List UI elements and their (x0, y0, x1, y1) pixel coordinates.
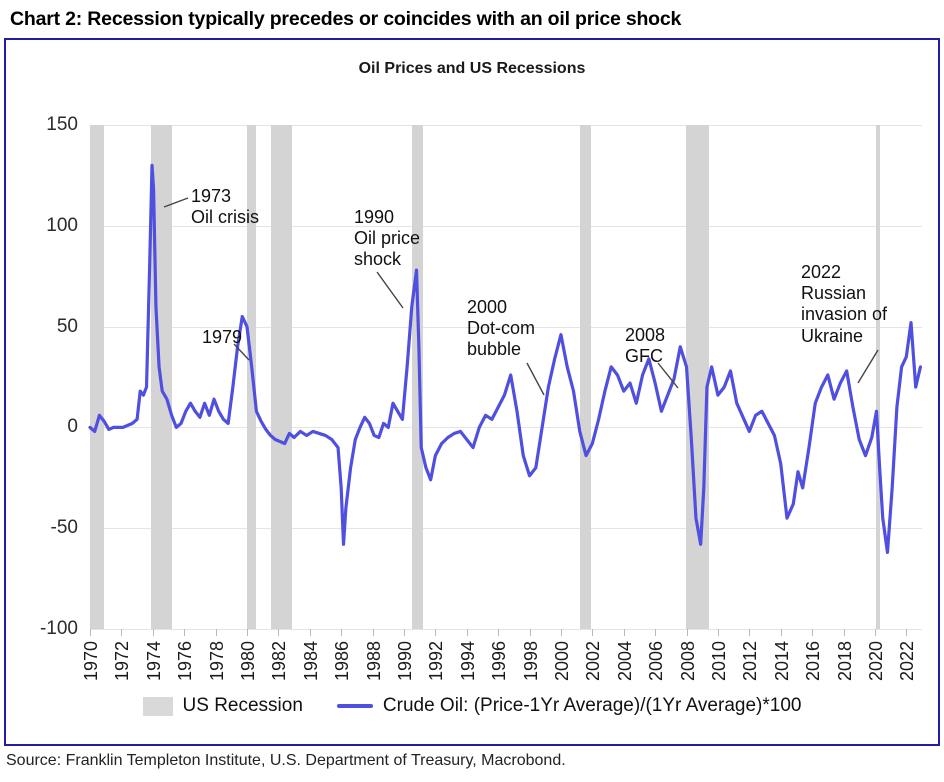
x-axis-tick-mark (592, 629, 593, 636)
x-axis-tick-mark (435, 629, 436, 636)
x-axis-tick-mark (467, 629, 468, 636)
x-axis-tick-label: 1992 (426, 641, 447, 681)
x-axis-tick-label: 1970 (81, 641, 102, 681)
legend: US Recession Crude Oil: (Price-1Yr Avera… (6, 695, 938, 717)
y-axis-tick-label: 100 (16, 215, 78, 237)
x-axis-tick-mark (718, 629, 719, 636)
x-axis-tick-label: 2022 (897, 641, 918, 681)
y-axis-tick-label: 0 (16, 416, 78, 438)
annotation-a1990: 1990 Oil price shock (354, 207, 420, 271)
y-axis-tick-label: 150 (16, 114, 78, 136)
x-axis-tick-label: 1982 (269, 641, 290, 681)
x-axis-tick-label: 2020 (866, 641, 887, 681)
x-axis-tick-mark (875, 629, 876, 636)
x-axis-tick-mark (530, 629, 531, 636)
x-axis-tick-mark (90, 629, 91, 636)
annotation-a1979: 1979 (202, 327, 242, 348)
x-axis-tick-mark (624, 629, 625, 636)
x-axis-tick-label: 1986 (332, 641, 353, 681)
x-axis-tick-mark (247, 629, 248, 636)
legend-label-crude-oil: Crude Oil: (Price-1Yr Average)/(1Yr Aver… (383, 695, 802, 717)
x-axis-tick-mark (278, 629, 279, 636)
annotation-a2000: 2000 Dot-com bubble (467, 297, 535, 361)
x-axis-tick-label: 1984 (301, 641, 322, 681)
legend-label-recession: US Recession (183, 695, 303, 717)
x-axis-tick-label: 1972 (112, 641, 133, 681)
x-axis-tick-mark (121, 629, 122, 636)
x-axis-tick-mark (749, 629, 750, 636)
x-axis-tick-mark (153, 629, 154, 636)
y-axis-tick-label: 50 (16, 316, 78, 338)
x-axis-tick-label: 1988 (364, 641, 385, 681)
x-axis-labels: 1970197219741976197819801982198419861988… (90, 629, 922, 643)
x-axis-tick-mark (655, 629, 656, 636)
x-axis-tick-label: 1998 (521, 641, 542, 681)
legend-item-crude-oil: Crude Oil: (Price-1Yr Average)/(1Yr Aver… (337, 695, 802, 717)
x-axis-tick-label: 2018 (835, 641, 856, 681)
series-line-swatch-icon (337, 704, 373, 708)
recession-swatch-icon (143, 697, 173, 716)
x-axis-tick-label: 1980 (238, 641, 259, 681)
source-note: Source: Franklin Templeton Institute, U.… (6, 752, 566, 770)
x-axis-tick-mark (687, 629, 688, 636)
x-axis-tick-mark (844, 629, 845, 636)
x-axis-tick-label: 1996 (489, 641, 510, 681)
x-axis-tick-mark (404, 629, 405, 636)
x-axis-tick-label: 1994 (458, 641, 479, 681)
x-axis-tick-label: 2006 (646, 641, 667, 681)
x-axis-tick-mark (310, 629, 311, 636)
x-axis-tick-label: 1976 (175, 641, 196, 681)
x-axis-tick-label: 1990 (395, 641, 416, 681)
page-title: Chart 2: Recession typically precedes or… (10, 8, 681, 31)
legend-item-recession: US Recession (143, 695, 303, 717)
x-axis-tick-mark (781, 629, 782, 636)
x-axis-tick-label: 2010 (709, 641, 730, 681)
y-axis-tick-label: -100 (16, 618, 78, 640)
x-axis-tick-label: 1978 (207, 641, 228, 681)
x-axis-tick-label: 2014 (772, 641, 793, 681)
chart-page: Chart 2: Recession typically precedes or… (0, 0, 944, 782)
x-axis-tick-mark (373, 629, 374, 636)
x-axis-tick-label: 2016 (803, 641, 824, 681)
x-axis-tick-label: 1974 (144, 641, 165, 681)
x-axis-tick-label: 2004 (615, 641, 636, 681)
annotation-a2022: 2022 Russian invasion of Ukraine (801, 262, 887, 347)
x-axis-tick-label: 2002 (583, 641, 604, 681)
x-axis-tick-mark (184, 629, 185, 636)
x-axis-tick-mark (341, 629, 342, 636)
x-axis-tick-label: 2000 (552, 641, 573, 681)
x-axis-tick-mark (216, 629, 217, 636)
x-axis-tick-mark (906, 629, 907, 636)
annotation-a1973: 1973 Oil crisis (191, 186, 259, 228)
x-axis-tick-label: 2008 (678, 641, 699, 681)
y-axis-tick-label: -50 (16, 517, 78, 539)
x-axis-tick-label: 2012 (740, 641, 761, 681)
annotation-a2008: 2008 GFC (625, 325, 665, 367)
x-axis-tick-mark (812, 629, 813, 636)
chart-inner-title: Oil Prices and US Recessions (6, 60, 938, 78)
x-axis-tick-mark (498, 629, 499, 636)
x-axis-tick-mark (561, 629, 562, 636)
chart-frame: Oil Prices and US Recessions 150100500-5… (4, 38, 940, 746)
